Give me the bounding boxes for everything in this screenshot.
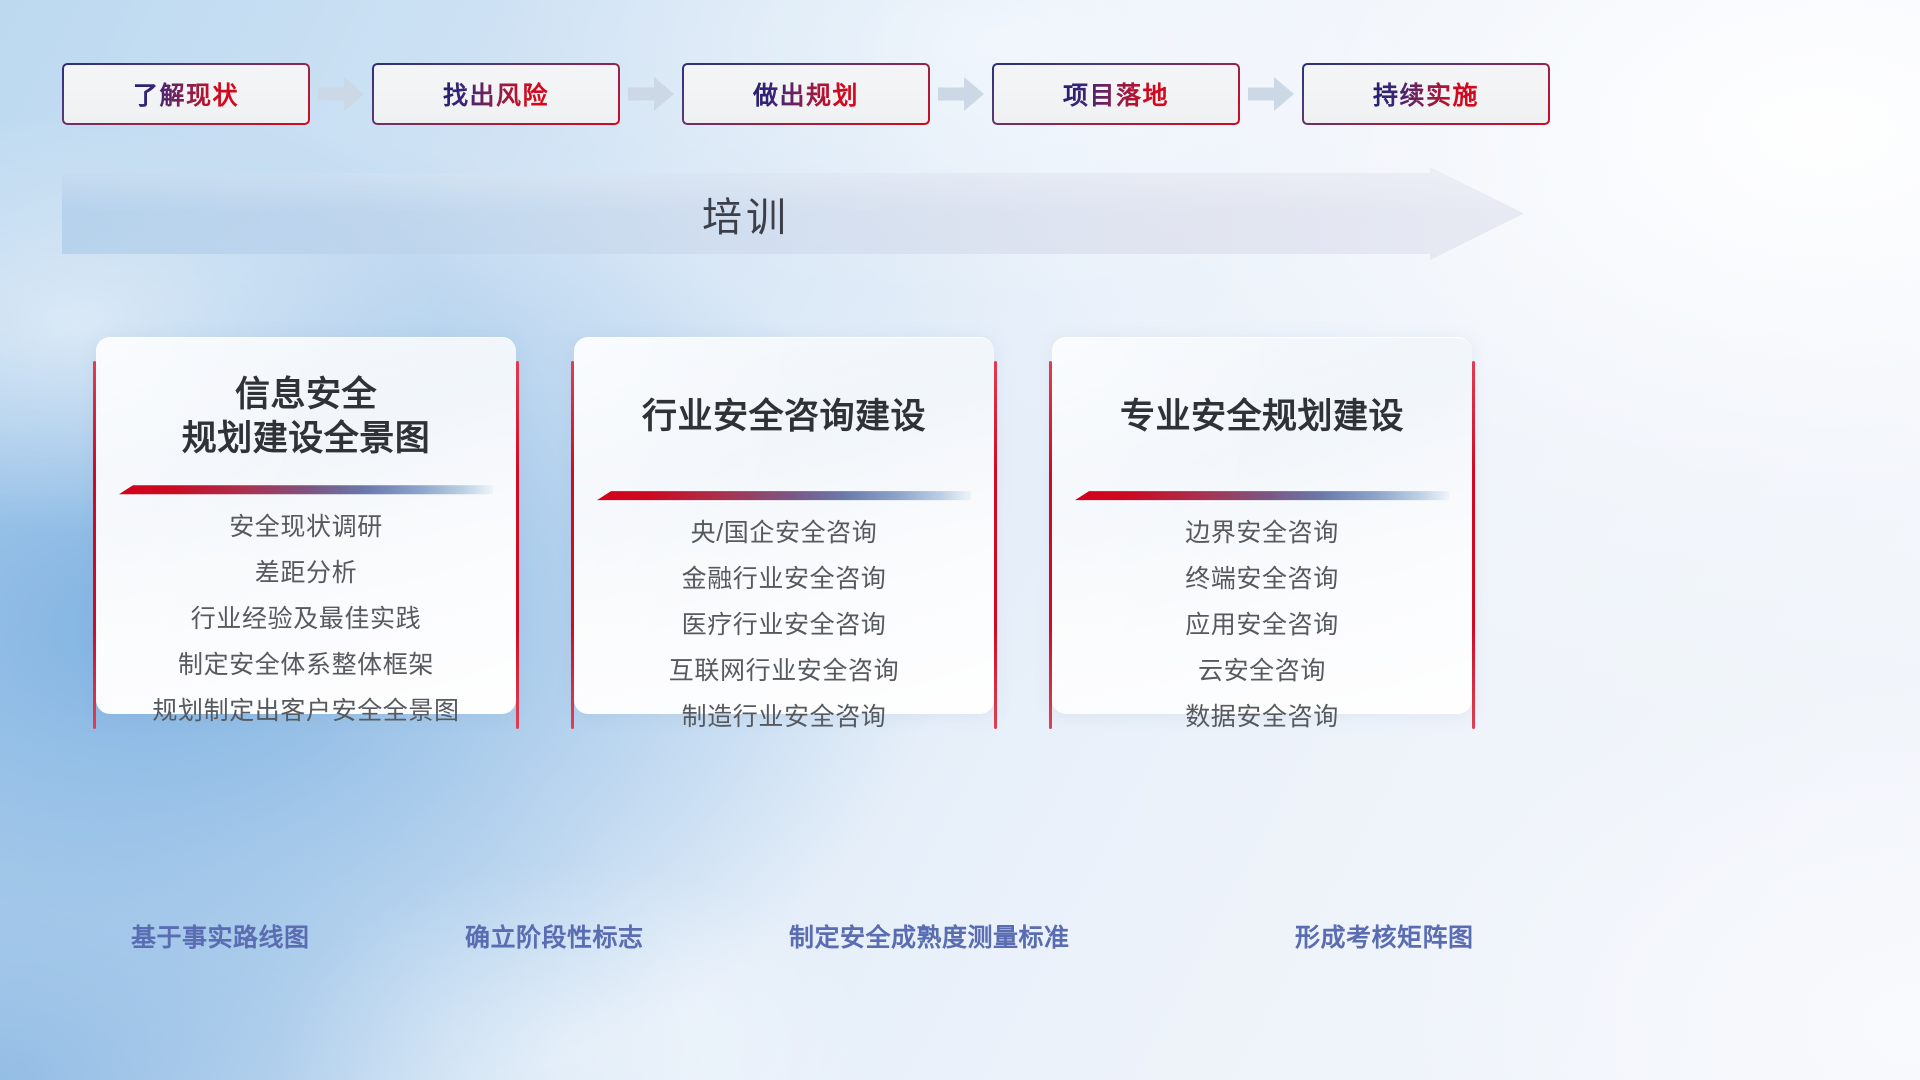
step-label: 做出规划 (753, 76, 859, 112)
list-item: 安全现状调研 (122, 505, 490, 551)
card-right-accent-bar (994, 361, 997, 729)
card-right-accent-bar (1472, 361, 1475, 729)
list-item: 数据安全咨询 (1078, 695, 1446, 741)
list-item: 云安全咨询 (1078, 649, 1446, 695)
list-item: 央/国企安全咨询 (600, 511, 968, 557)
bottom-label: 基于事实路线图 (131, 918, 310, 954)
card-industry-security-consulting[interactable]: 行业安全咨询建设 央/国企安全咨询 金融行业安全咨询 医疗行业安全咨询 互联网行… (571, 337, 997, 714)
step-box-3[interactable]: 做出规划 (682, 63, 930, 125)
list-item: 医疗行业安全咨询 (600, 603, 968, 649)
banner-title: 培训 (62, 167, 1430, 260)
step-box-5[interactable]: 持续实施 (1302, 63, 1550, 125)
card-information-security-blueprint[interactable]: 信息安全 规划建设全景图 安全现状调研 差距分析 行业经验及最佳实践 制定安全体… (93, 337, 519, 714)
list-item: 制造行业安全咨询 (600, 695, 968, 741)
card-item-list: 边界安全咨询 终端安全咨询 应用安全咨询 云安全咨询 数据安全咨询 (1078, 511, 1446, 741)
list-item: 行业经验及最佳实践 (122, 597, 490, 643)
slide-stage: 了解现状 找出风险 做出规划 项目落地 (0, 0, 1920, 1080)
card-title: 行业安全咨询建设 (642, 395, 926, 439)
bottom-label: 形成考核矩阵图 (1295, 918, 1474, 954)
bottom-label: 确立阶段性标志 (465, 918, 644, 954)
list-item: 差距分析 (122, 551, 490, 597)
card-title: 专业安全规划建设 (1120, 395, 1404, 439)
step-label: 找出风险 (443, 76, 549, 112)
training-banner: 培训 (62, 167, 1524, 260)
step-label: 了解现状 (133, 76, 239, 112)
step-box-1[interactable]: 了解现状 (62, 63, 310, 125)
step-box-2[interactable]: 找出风险 (372, 63, 620, 125)
step-box-4[interactable]: 项目落地 (992, 63, 1240, 125)
list-item: 边界安全咨询 (1078, 511, 1446, 557)
bottom-label-row: 基于事实路线图 确立阶段性标志 制定安全成熟度测量标准 形成考核矩阵图 (0, 918, 1920, 962)
list-item: 应用安全咨询 (1078, 603, 1446, 649)
card-item-list: 央/国企安全咨询 金融行业安全咨询 医疗行业安全咨询 互联网行业安全咨询 制造行… (600, 511, 968, 741)
step-label: 项目落地 (1063, 76, 1169, 112)
right-arrow-icon (310, 63, 372, 125)
card-right-accent-bar (516, 361, 519, 729)
bottom-label: 制定安全成熟度测量标准 (789, 918, 1070, 954)
right-arrow-icon (1240, 63, 1302, 125)
card-title-line: 行业安全咨询建设 (642, 395, 926, 439)
right-arrow-icon (930, 63, 992, 125)
list-item: 互联网行业安全咨询 (600, 649, 968, 695)
list-item: 终端安全咨询 (1078, 557, 1446, 603)
right-arrow-icon (620, 63, 682, 125)
card-item-list: 安全现状调研 差距分析 行业经验及最佳实践 制定安全体系整体框架 规划制定出客户… (122, 505, 490, 735)
card-title: 信息安全 规划建设全景图 (182, 373, 431, 461)
step-label: 持续实施 (1373, 76, 1479, 112)
card-title-line: 专业安全规划建设 (1120, 395, 1404, 439)
list-item: 金融行业安全咨询 (600, 557, 968, 603)
card-title-line: 规划建设全景图 (182, 417, 431, 461)
card-title-line: 信息安全 (182, 373, 431, 417)
list-item: 制定安全体系整体框架 (122, 643, 490, 689)
list-item: 规划制定出客户安全全景图 (122, 689, 490, 735)
card-professional-security-planning[interactable]: 专业安全规划建设 边界安全咨询 终端安全咨询 应用安全咨询 云安全咨询 数据安全… (1049, 337, 1475, 714)
card-row: 信息安全 规划建设全景图 安全现状调研 差距分析 行业经验及最佳实践 制定安全体… (93, 337, 1843, 714)
process-step-row: 了解现状 找出风险 做出规划 项目落地 (62, 63, 1858, 125)
